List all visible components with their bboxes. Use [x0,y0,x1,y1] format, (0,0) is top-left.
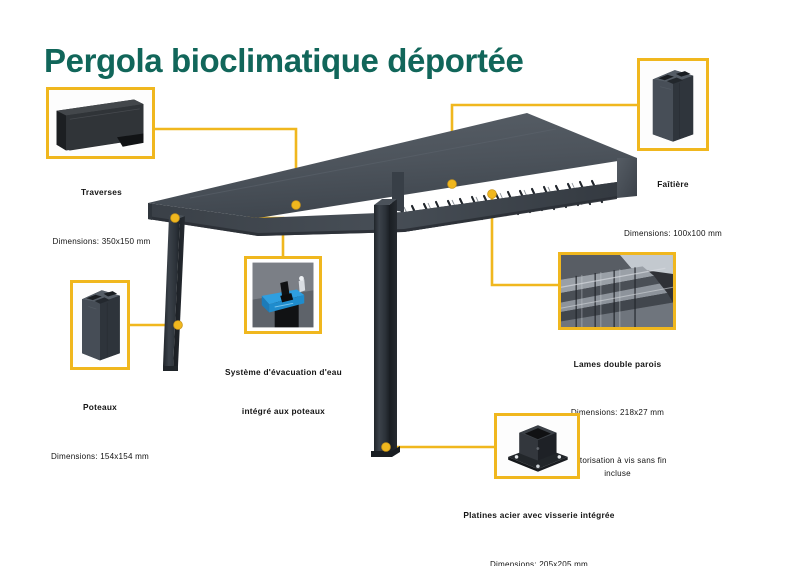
faitiere-product-photo [640,61,706,146]
dot-poteaux [174,321,183,330]
faitiere-dimensions: Dimensions: 100x100 mm [600,227,746,240]
dot-platines [382,443,391,452]
callout-traverses-caption: Traverses Dimensions: 350x150 mm [20,160,183,274]
poteaux-dimensions: Dimensions: 154x154 mm [22,450,178,463]
evacuation-title: Système d'évacuation d'eau [202,366,365,379]
callout-platines-image [494,413,580,479]
traverses-dimensions: Dimensions: 350x150 mm [20,235,183,248]
platines-dimensions: Dimensions: 205x205 mm [446,558,632,566]
callout-traverses-image [46,87,155,159]
callout-faitiere-caption: Faîtière Dimensions: 100x100 mm [600,152,746,266]
post-right-front [374,205,389,456]
callout-evacuation-caption: Système d'évacuation d'eau intégré aux p… [202,340,365,445]
poteaux-product-photo [73,283,127,364]
callout-poteaux-caption: Poteaux Dimensions: 154x154 mm [22,375,178,489]
lames-title: Lames double parois [540,358,695,371]
post-left-base [163,366,178,371]
evacuation-subtitle: intégré aux poteaux [202,405,365,418]
pergola-product-diagram: Pergola bioclimatique déportée [0,0,800,566]
traverses-product-photo [49,90,152,158]
traverses-title: Traverses [20,186,183,199]
callout-poteaux-image [70,280,130,370]
dot-traverses [292,201,301,210]
dot-faitiere [448,180,457,189]
evacuation-product-photo [247,259,319,331]
callout-evacuation-image [244,256,322,334]
post-right-side [389,199,397,456]
callout-platines-caption: Platines acier avec visserie intégrée Di… [446,483,632,566]
faitiere-title: Faîtière [600,178,746,191]
platines-product-photo [497,416,577,477]
dot-lames [488,190,497,199]
callout-lames-image [558,252,676,330]
poteaux-title: Poteaux [22,401,178,414]
lames-product-photo [561,255,673,329]
platines-title: Platines acier avec visserie intégrée [446,509,632,522]
callout-faitiere-image [637,58,709,151]
